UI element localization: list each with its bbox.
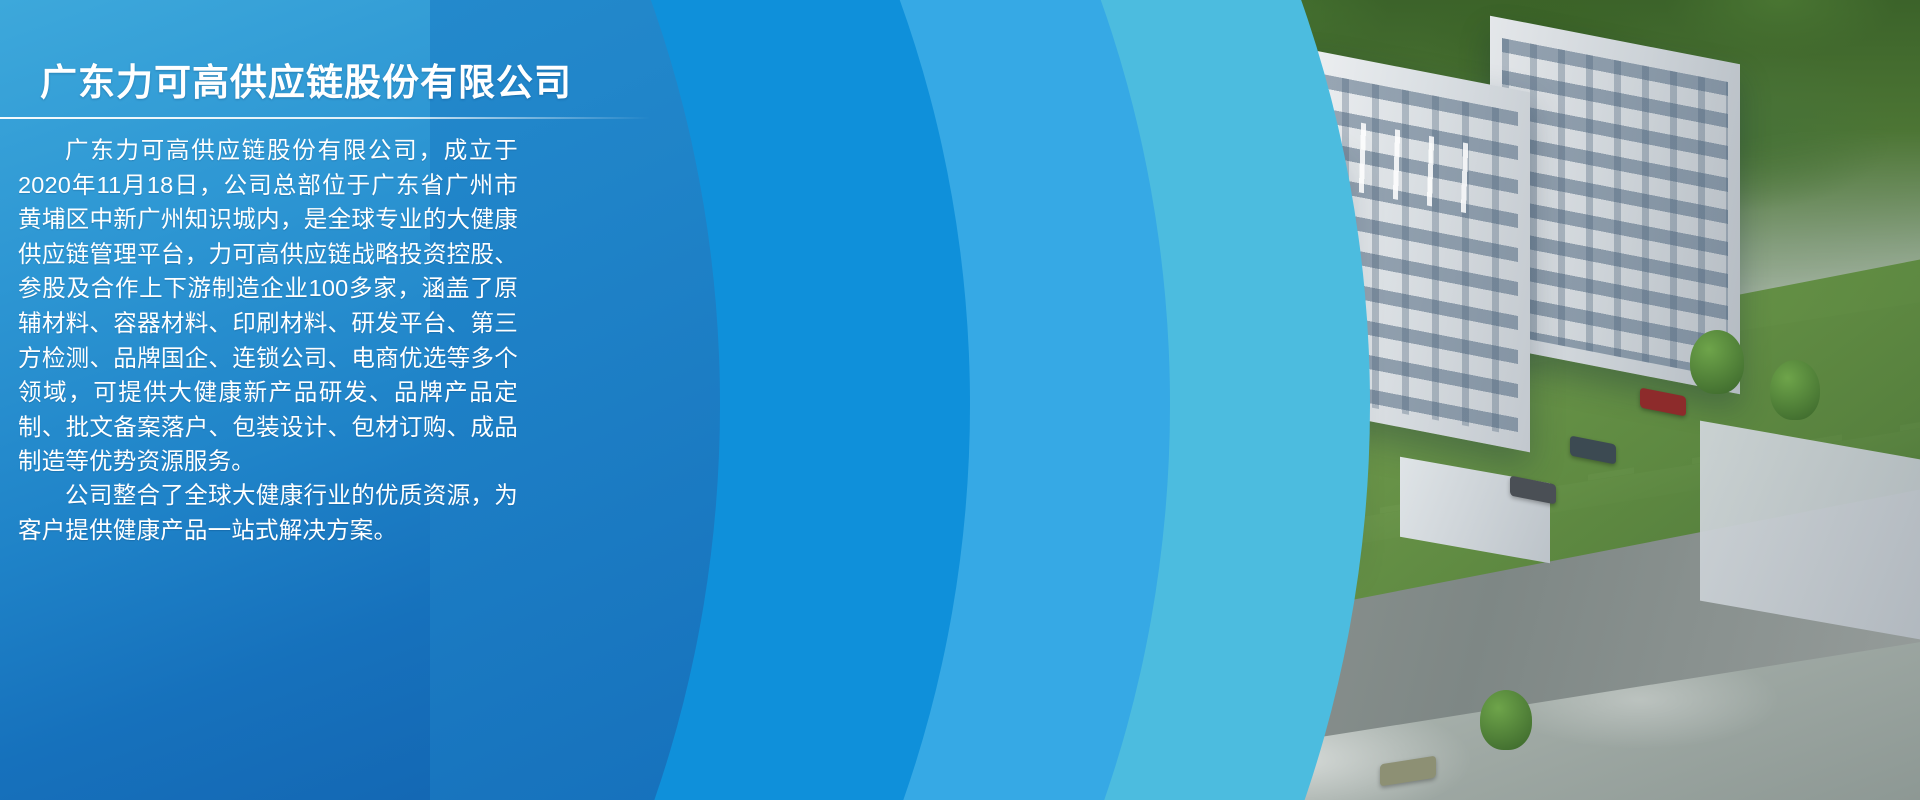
tree	[1480, 690, 1532, 750]
intro-paragraph-2: 公司整合了全球大健康行业的优质资源，为客户提供健康产品一站式解决方案。	[18, 478, 518, 547]
tree	[1690, 330, 1744, 394]
text-content: 广东力可高供应链股份有限公司 广东力可高供应链股份有限公司，成立于2020年11…	[0, 0, 700, 800]
adjacent-building	[1700, 421, 1920, 640]
car	[1380, 756, 1436, 787]
page-title: 广东力可高供应链股份有限公司	[40, 52, 572, 106]
title-divider	[0, 117, 650, 119]
intro-paragraph-1: 广东力可高供应链股份有限公司，成立于2020年11月18日，公司总部位于广东省广…	[18, 133, 518, 479]
tree	[1770, 360, 1820, 420]
company-profile-banner: 广东力可高供应链股份有限公司 广东力可高供应链股份有限公司，成立于2020年11…	[0, 0, 1920, 800]
